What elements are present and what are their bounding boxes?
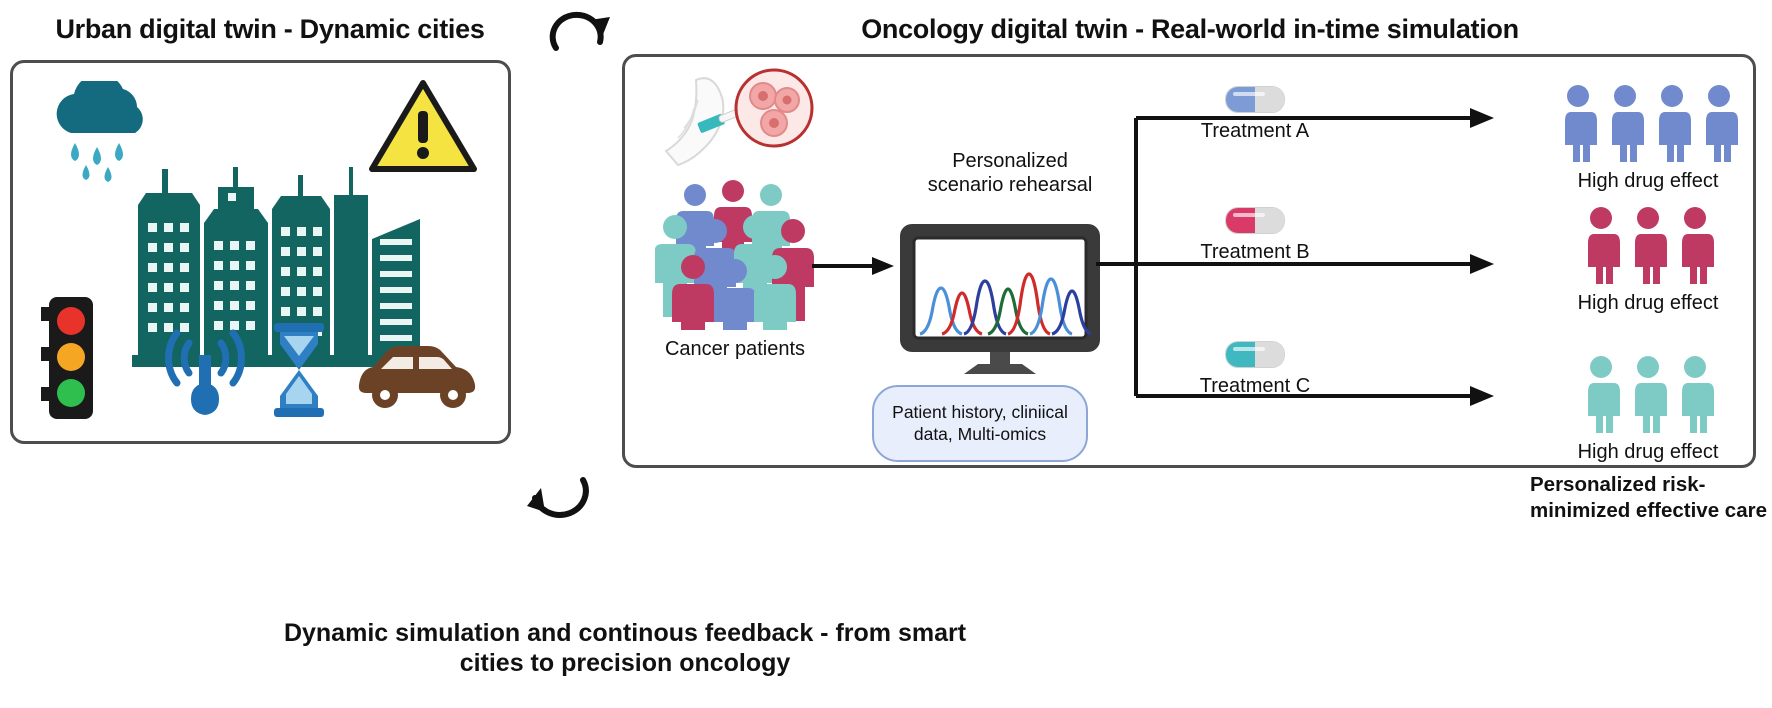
treatment-a-group: Treatment A	[1170, 86, 1340, 144]
outcome-c-label: High drug effect	[1578, 441, 1719, 465]
outcome-c-people	[1582, 355, 1714, 433]
cancer-patients-crowd-icon	[655, 175, 815, 335]
final-outcome-label: Personalized risk-minimized effective ca…	[1530, 472, 1768, 524]
simulation-label-line2: scenario rehearsal	[895, 174, 1125, 198]
outcome-b-group: High drug effect	[1528, 206, 1768, 316]
treatment-a-pill-icon	[1225, 86, 1285, 113]
treatment-c-pill-icon	[1225, 341, 1285, 368]
right-panel-title: Oncology digital twin - Real-world in-ti…	[650, 14, 1730, 45]
left-panel-title: Urban digital twin - Dynamic cities	[10, 14, 530, 45]
simulation-label-line1: Personalized	[895, 150, 1125, 174]
hourglass-icon	[266, 321, 332, 424]
treatment-b-pill-icon	[1225, 207, 1285, 234]
arrow-patients-to-monitor-icon	[812, 255, 894, 282]
cancer-patients-label: Cancer patients	[640, 338, 830, 362]
counterclockwise-arrow-icon	[505, 470, 605, 545]
urban-digital-twin-panel	[10, 60, 511, 444]
outcome-b-label: High drug effect	[1578, 292, 1719, 316]
treatment-c-label: Treatment C	[1200, 375, 1310, 399]
bottom-caption: Dynamic simulation and continous feedbac…	[280, 618, 970, 678]
treatment-b-group: Treatment B	[1170, 207, 1340, 265]
traffic-light-icon	[35, 293, 107, 428]
monitor-chromatogram-icon	[898, 222, 1120, 382]
outcome-a-people	[1559, 84, 1738, 162]
outcome-a-group: High drug effect	[1528, 84, 1768, 194]
outcome-b-people	[1582, 206, 1714, 284]
data-sources-bubble: Patient history, cliniical data, Multi-o…	[872, 385, 1088, 462]
clockwise-arrow-icon	[528, 2, 628, 67]
simulation-label: Personalized scenario rehearsal	[895, 150, 1125, 197]
treatment-b-label: Treatment B	[1200, 241, 1309, 265]
outcome-c-group: High drug effect	[1528, 355, 1768, 465]
wireless-signal-icon	[161, 325, 249, 422]
outcome-a-label: High drug effect	[1578, 170, 1719, 194]
tumor-cells-icon	[730, 66, 818, 159]
treatment-a-label: Treatment A	[1201, 120, 1309, 144]
car-icon	[353, 335, 485, 416]
treatment-c-group: Treatment C	[1170, 341, 1340, 399]
